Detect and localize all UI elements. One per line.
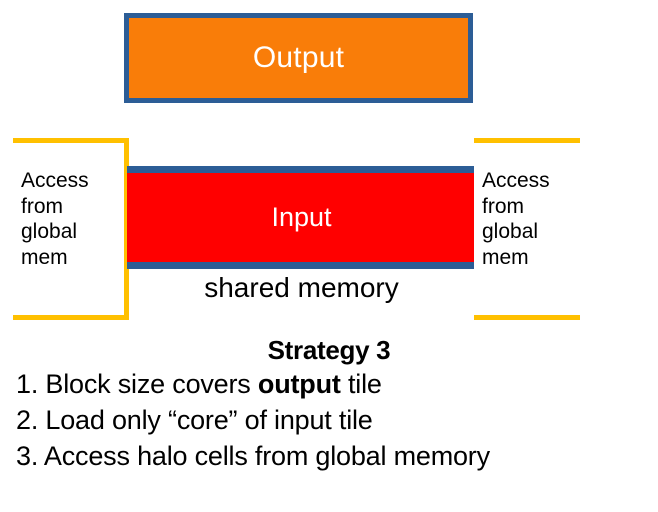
halo-left-line-2: from [21, 194, 119, 220]
output-tile-box: Output [124, 13, 473, 103]
shared-memory-cell: Input shared memory [124, 138, 479, 320]
strategy-step-2-number: 2. [16, 405, 38, 435]
strategy-step-2: 2. Load only “core” of input tile [0, 402, 658, 438]
input-tile-diagram: Access from global mem Input shared memo… [13, 138, 580, 320]
strategy-title: Strategy 3 [0, 334, 658, 366]
strategy-step-3-number: 3. [16, 441, 38, 471]
halo-cell-left: Access from global mem [13, 143, 119, 315]
halo-right-line-1: Access [482, 168, 580, 194]
strategy-step-1-text-before: Block size covers [38, 369, 258, 399]
halo-left-line-4: mem [21, 245, 119, 271]
strategy-step-1-emphasis: output [258, 369, 341, 399]
halo-right-line-4: mem [482, 245, 580, 271]
halo-right-line-2: from [482, 194, 580, 220]
output-tile-label: Output [253, 43, 344, 73]
input-core-band: Input [127, 166, 476, 269]
strategy-step-3: 3. Access halo cells from global memory [0, 438, 658, 474]
strategy-caption: Strategy 3 1. Block size covers output t… [0, 334, 658, 474]
input-core-label: Input [271, 204, 331, 231]
strategy-step-1-number: 1. [16, 369, 38, 399]
shared-memory-label: shared memory [129, 274, 474, 302]
halo-cell-right: Access from global mem [474, 143, 580, 315]
halo-right-line-3: global [482, 219, 580, 245]
strategy-step-3-text-before: Access halo cells from global memory [38, 441, 490, 471]
strategy-step-1: 1. Block size covers output tile [0, 366, 658, 402]
strategy-step-2-text-before: Load only “core” of input tile [38, 405, 373, 435]
halo-left-line-3: global [21, 219, 119, 245]
strategy-step-1-text-after: tile [341, 369, 382, 399]
halo-left-line-1: Access [21, 168, 119, 194]
